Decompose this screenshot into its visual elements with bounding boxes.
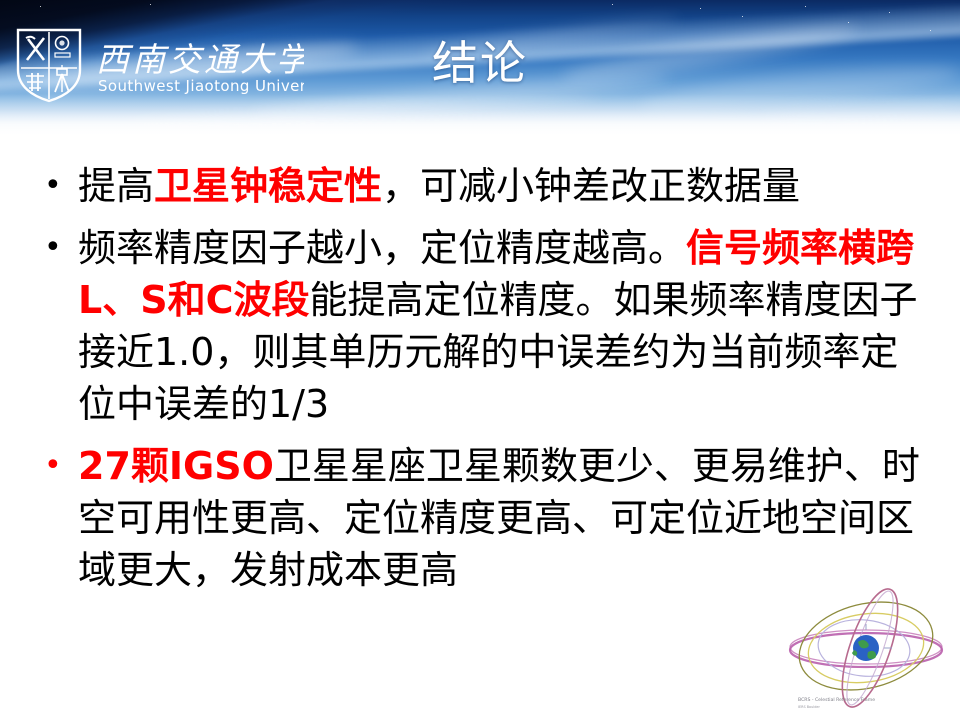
slide-root: 西南交通大学 Southwest Jiaotong University 结论 … xyxy=(0,0,960,720)
slide-header: 西南交通大学 Southwest Jiaotong University 结论 xyxy=(0,0,960,138)
slide-body: • 提高卫星钟稳定性，可减小钟差改正数据量 • 频率精度因子越小，定位精度越高。… xyxy=(0,160,960,596)
bullet-segment-plain: ，可减小钟差改正数据量 xyxy=(382,164,800,208)
bullet-item: • 频率精度因子越小，定位精度越高。信号频率横跨L、S和C波段能提高定位精度。如… xyxy=(0,222,960,430)
star-speck xyxy=(700,8,701,9)
star-speck xyxy=(805,6,806,7)
star-speck xyxy=(889,12,890,13)
bullet-marker-icon: • xyxy=(44,222,78,274)
star-speck xyxy=(150,4,151,5)
figure-caption-sub: IERS Boulder xyxy=(798,704,948,710)
bullet-text: 27颗IGSO卫星星座卫星颗数更少、更易维护、时空可用性更高、定位精度更高、可定… xyxy=(78,440,934,596)
globe-landmass xyxy=(867,651,876,659)
bullet-segment-highlight: 27颗IGSO xyxy=(78,444,274,488)
star-speck xyxy=(742,16,743,17)
figure-caption: BCRS - Celestial Reference Frame IERS Bo… xyxy=(798,698,948,710)
star-speck xyxy=(930,30,931,31)
slide-title: 结论 xyxy=(0,38,960,89)
bullet-marker-icon: • xyxy=(44,160,78,212)
bullet-marker-icon: • xyxy=(44,440,78,492)
bullet-item: • 27颗IGSO卫星星座卫星颗数更少、更易维护、时空可用性更高、定位精度更高、… xyxy=(0,440,960,596)
bullet-segment-highlight: 卫星钟稳定性 xyxy=(154,164,382,208)
bullet-item: • 提高卫星钟稳定性，可减小钟差改正数据量 xyxy=(0,160,960,212)
bullet-segment-plain: 提高 xyxy=(78,164,154,208)
bullet-text: 频率精度因子越小，定位精度越高。信号频率横跨L、S和C波段能提高定位精度。如果频… xyxy=(78,222,934,430)
bullet-text: 提高卫星钟稳定性，可减小钟差改正数据量 xyxy=(78,160,934,212)
star-speck xyxy=(848,22,849,23)
star-speck xyxy=(612,4,613,5)
bullet-segment-plain: 频率精度因子越小，定位精度越高。 xyxy=(78,226,686,270)
star-speck xyxy=(40,6,41,7)
